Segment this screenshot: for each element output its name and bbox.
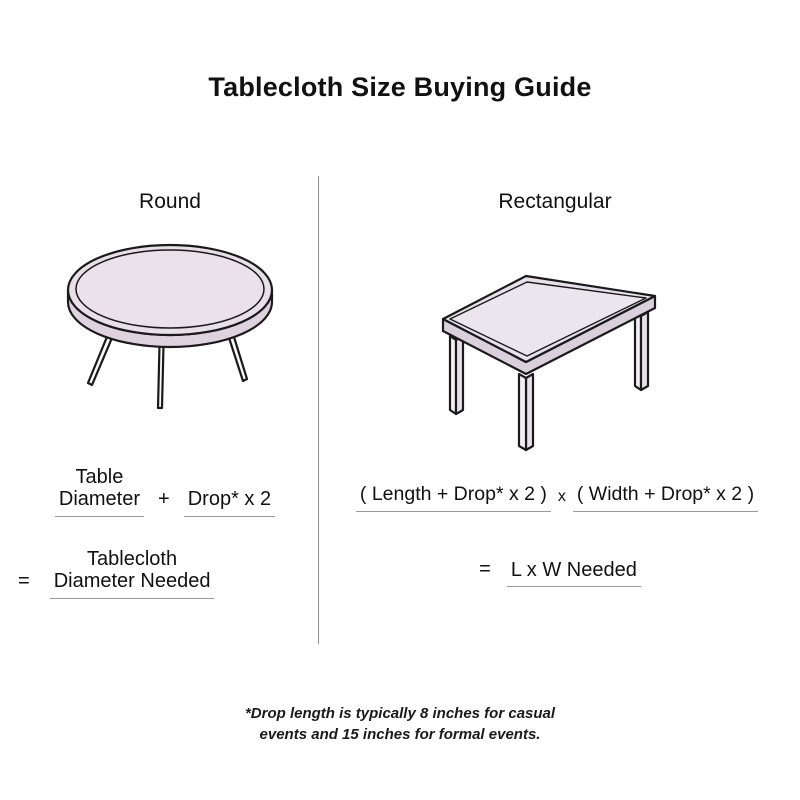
round-equals-sign: = bbox=[18, 570, 46, 599]
rect-equals-sign: = bbox=[479, 558, 507, 587]
footnote-line2: events and 15 inches for formal events. bbox=[260, 726, 541, 743]
round-result-term: Tablecloth Diameter Needed bbox=[50, 548, 215, 599]
column-heading-round: Round bbox=[40, 190, 300, 214]
infographic-page: Tablecloth Size Buying Guide Round bbox=[0, 0, 800, 800]
round-table-illustration bbox=[60, 228, 280, 443]
column-heading-rectangular: Rectangular bbox=[340, 190, 770, 214]
round-operator-plus: + bbox=[144, 488, 184, 517]
rect-formula-top: ( Length + Drop* x 2 ) x ( Width + Drop*… bbox=[324, 484, 790, 512]
rect-term-width: ( Width + Drop* x 2 ) bbox=[573, 484, 758, 512]
round-term-line1: Table bbox=[76, 466, 124, 488]
round-result-line1: Tablecloth bbox=[87, 548, 177, 570]
round-term-table-diameter: Table Diameter bbox=[55, 466, 144, 517]
footnote: *Drop length is typically 8 inches for c… bbox=[150, 704, 650, 745]
rect-operator-multiply: x bbox=[551, 488, 573, 512]
round-formula-top: Table Diameter + Drop* x 2 bbox=[30, 466, 300, 517]
footnote-line1: *Drop length is typically 8 inches for c… bbox=[245, 705, 555, 722]
rect-result-term: L x W Needed bbox=[507, 559, 641, 587]
round-formula-result: = Tablecloth Diameter Needed bbox=[18, 548, 300, 599]
round-result-line2: Diameter Needed bbox=[54, 570, 211, 592]
rectangular-table-illustration bbox=[430, 238, 680, 463]
column-divider bbox=[318, 176, 319, 644]
page-title: Tablecloth Size Buying Guide bbox=[0, 72, 800, 103]
rect-formula-result: = L x W Needed bbox=[340, 558, 780, 587]
round-term-drop: Drop* x 2 bbox=[184, 488, 275, 516]
round-term-line2: Diameter bbox=[59, 488, 140, 510]
rect-term-length: ( Length + Drop* x 2 ) bbox=[356, 484, 551, 512]
